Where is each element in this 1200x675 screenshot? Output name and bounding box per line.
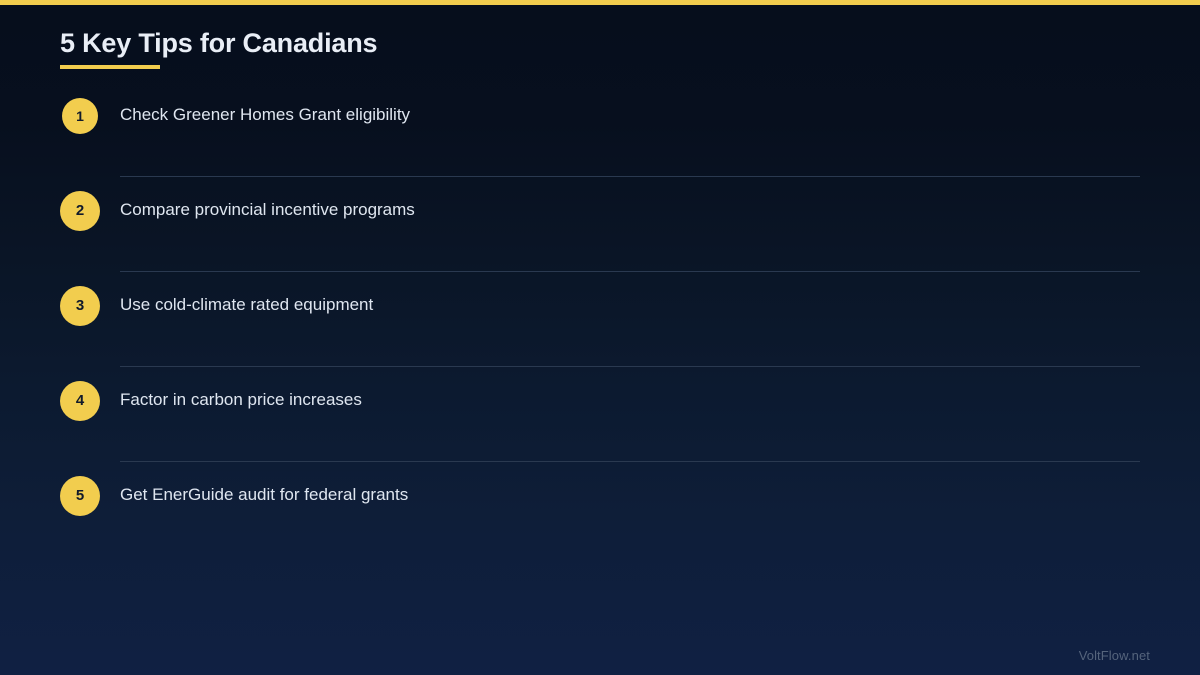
list-item: 1 Check Greener Homes Grant eligibility: [0, 88, 1200, 183]
tip-number-badge: 3: [60, 286, 100, 326]
list-divider: [120, 366, 1140, 367]
tip-label: Compare provincial incentive programs: [120, 198, 415, 222]
slide-canvas: 5 Key Tips for Canadians 1 Check Greener…: [0, 0, 1200, 675]
tips-list: 1 Check Greener Homes Grant eligibility …: [0, 88, 1200, 563]
tip-number-badge: 5: [60, 476, 100, 516]
list-divider: [120, 176, 1140, 177]
title-block: 5 Key Tips for Canadians: [60, 26, 377, 69]
list-divider: [120, 271, 1140, 272]
watermark: VoltFlow.net: [1079, 648, 1150, 663]
tip-label: Factor in carbon price increases: [120, 388, 362, 412]
list-item: 5 Get EnerGuide audit for federal grants: [0, 468, 1200, 563]
tip-label: Use cold-climate rated equipment: [120, 293, 373, 317]
page-title: 5 Key Tips for Canadians: [60, 26, 377, 60]
title-underline: [60, 65, 160, 69]
tip-number-badge: 2: [60, 191, 100, 231]
list-item: 4 Factor in carbon price increases: [0, 373, 1200, 468]
tip-label: Get EnerGuide audit for federal grants: [120, 483, 408, 507]
list-divider: [120, 461, 1140, 462]
top-accent-bar: [0, 0, 1200, 5]
list-item: 3 Use cold-climate rated equipment: [0, 278, 1200, 373]
tip-label: Check Greener Homes Grant eligibility: [120, 103, 410, 127]
tip-number-badge: 1: [62, 98, 98, 134]
tip-number-badge: 4: [60, 381, 100, 421]
list-item: 2 Compare provincial incentive programs: [0, 183, 1200, 278]
